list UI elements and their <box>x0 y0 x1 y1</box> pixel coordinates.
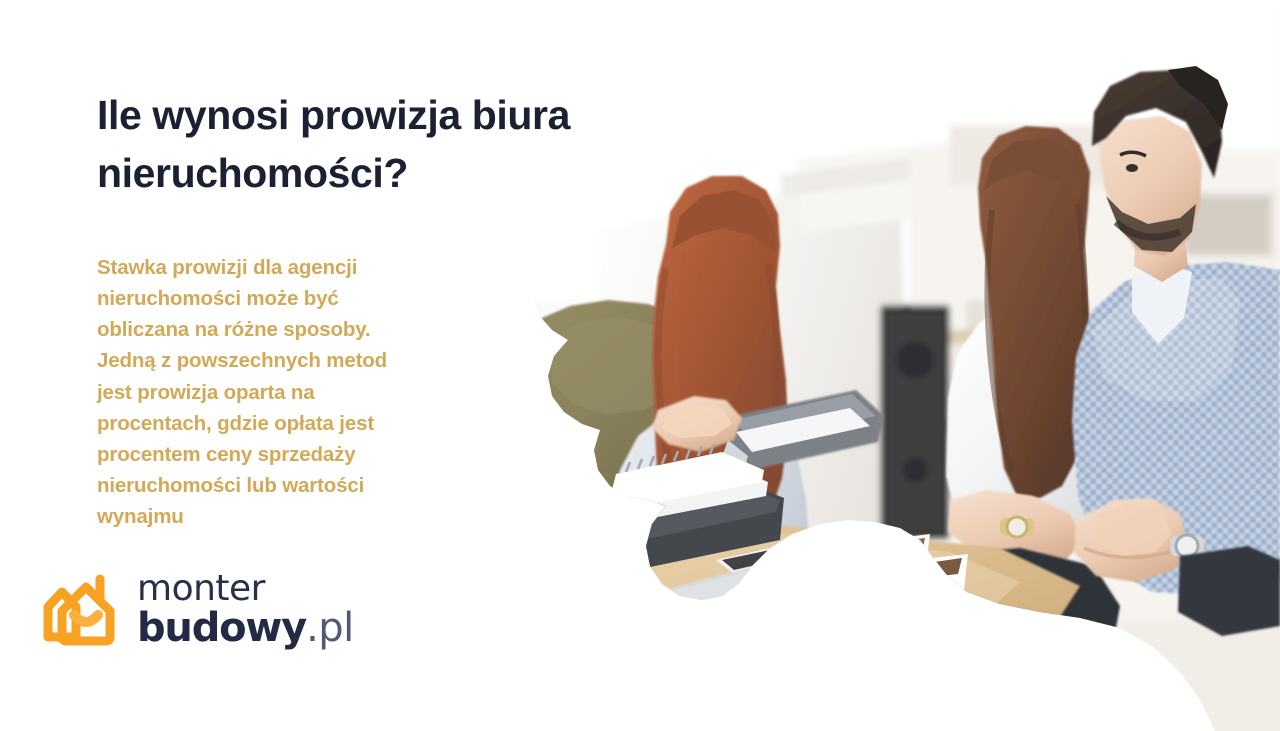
page-title: Ile wynosi prowizja biura nieruchomości? <box>97 86 717 202</box>
pen <box>748 568 842 598</box>
intro-paragraph: Stawka prowizji dla agencji nieruchomośc… <box>97 252 467 532</box>
article-banner: Ile wynosi prowizja biura nieruchomości?… <box>0 0 1280 731</box>
text-column: Ile wynosi prowizja biura nieruchomości?… <box>97 0 567 731</box>
